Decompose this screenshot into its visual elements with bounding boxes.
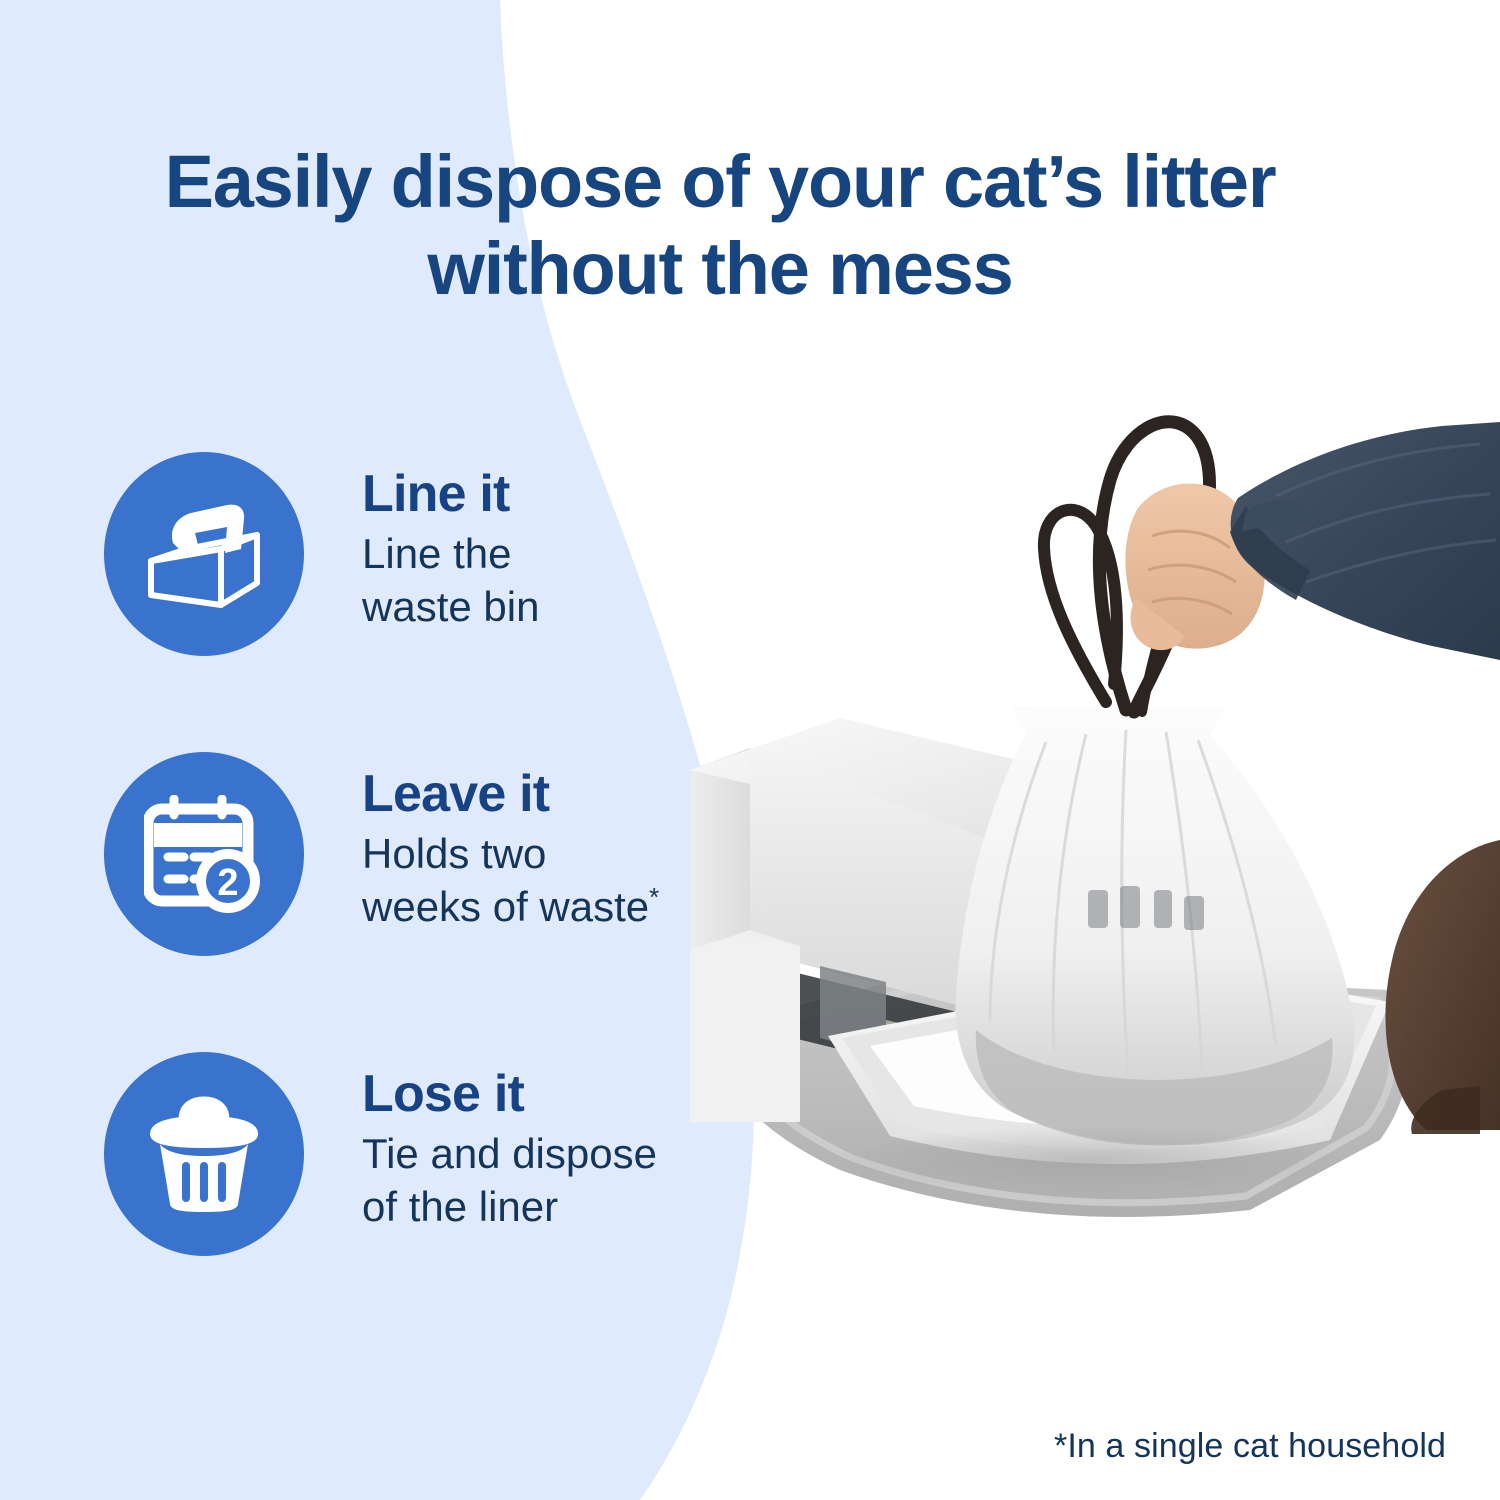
feature-desc-line-1: Line the bbox=[362, 530, 511, 577]
feature-desc-line-1: Tie and dispose bbox=[362, 1130, 657, 1177]
feature-item-leave-it: 2 Leave it Holds two weeks of waste* bbox=[104, 752, 724, 974]
headline-line-1: Easily dispose of your cat’s litter bbox=[165, 140, 1276, 223]
calendar-badge-number: 2 bbox=[217, 862, 238, 904]
drop-shadow bbox=[830, 1126, 1350, 1194]
footnote: *In a single cat household bbox=[1054, 1427, 1446, 1466]
feature-title: Leave it bbox=[362, 766, 659, 822]
feature-item-line-it: Line it Line the waste bin bbox=[104, 452, 724, 674]
tissue-box-icon bbox=[104, 452, 304, 656]
calendar-2-icon: 2 bbox=[104, 752, 304, 956]
cat bbox=[1385, 840, 1500, 1130]
feature-desc-line-2: waste bin bbox=[362, 583, 539, 630]
product-infographic: Easily dispose of your cat’s litter with… bbox=[0, 0, 1500, 1500]
waste-bag bbox=[956, 706, 1355, 1145]
feature-desc-line-1: Holds two bbox=[362, 830, 546, 877]
feature-description: Tie and dispose of the liner bbox=[362, 1128, 657, 1234]
trash-can-icon bbox=[104, 1052, 304, 1256]
feature-text-lose-it: Lose it Tie and dispose of the liner bbox=[362, 1052, 657, 1234]
headline-line-2: without the mess bbox=[0, 225, 1440, 312]
feature-item-lose-it: Lose it Tie and dispose of the liner bbox=[104, 1052, 724, 1274]
feature-text-leave-it: Leave it Holds two weeks of waste* bbox=[362, 752, 659, 934]
feature-list: Line it Line the waste bin bbox=[104, 452, 724, 1274]
feature-desc-line-2: of the liner bbox=[362, 1183, 558, 1230]
feature-text-line-it: Line it Line the waste bin bbox=[362, 452, 539, 634]
feature-title: Lose it bbox=[362, 1066, 657, 1122]
feature-description: Holds two weeks of waste* bbox=[362, 828, 659, 934]
feature-description: Line the waste bin bbox=[362, 528, 539, 634]
feature-title: Line it bbox=[362, 466, 539, 522]
feature-footnote-marker: * bbox=[649, 882, 659, 912]
page-title: Easily dispose of your cat’s litter with… bbox=[0, 138, 1440, 313]
product-photo bbox=[690, 330, 1500, 1340]
denim-sleeve bbox=[1230, 422, 1500, 660]
feature-desc-line-2: weeks of waste bbox=[362, 883, 649, 930]
